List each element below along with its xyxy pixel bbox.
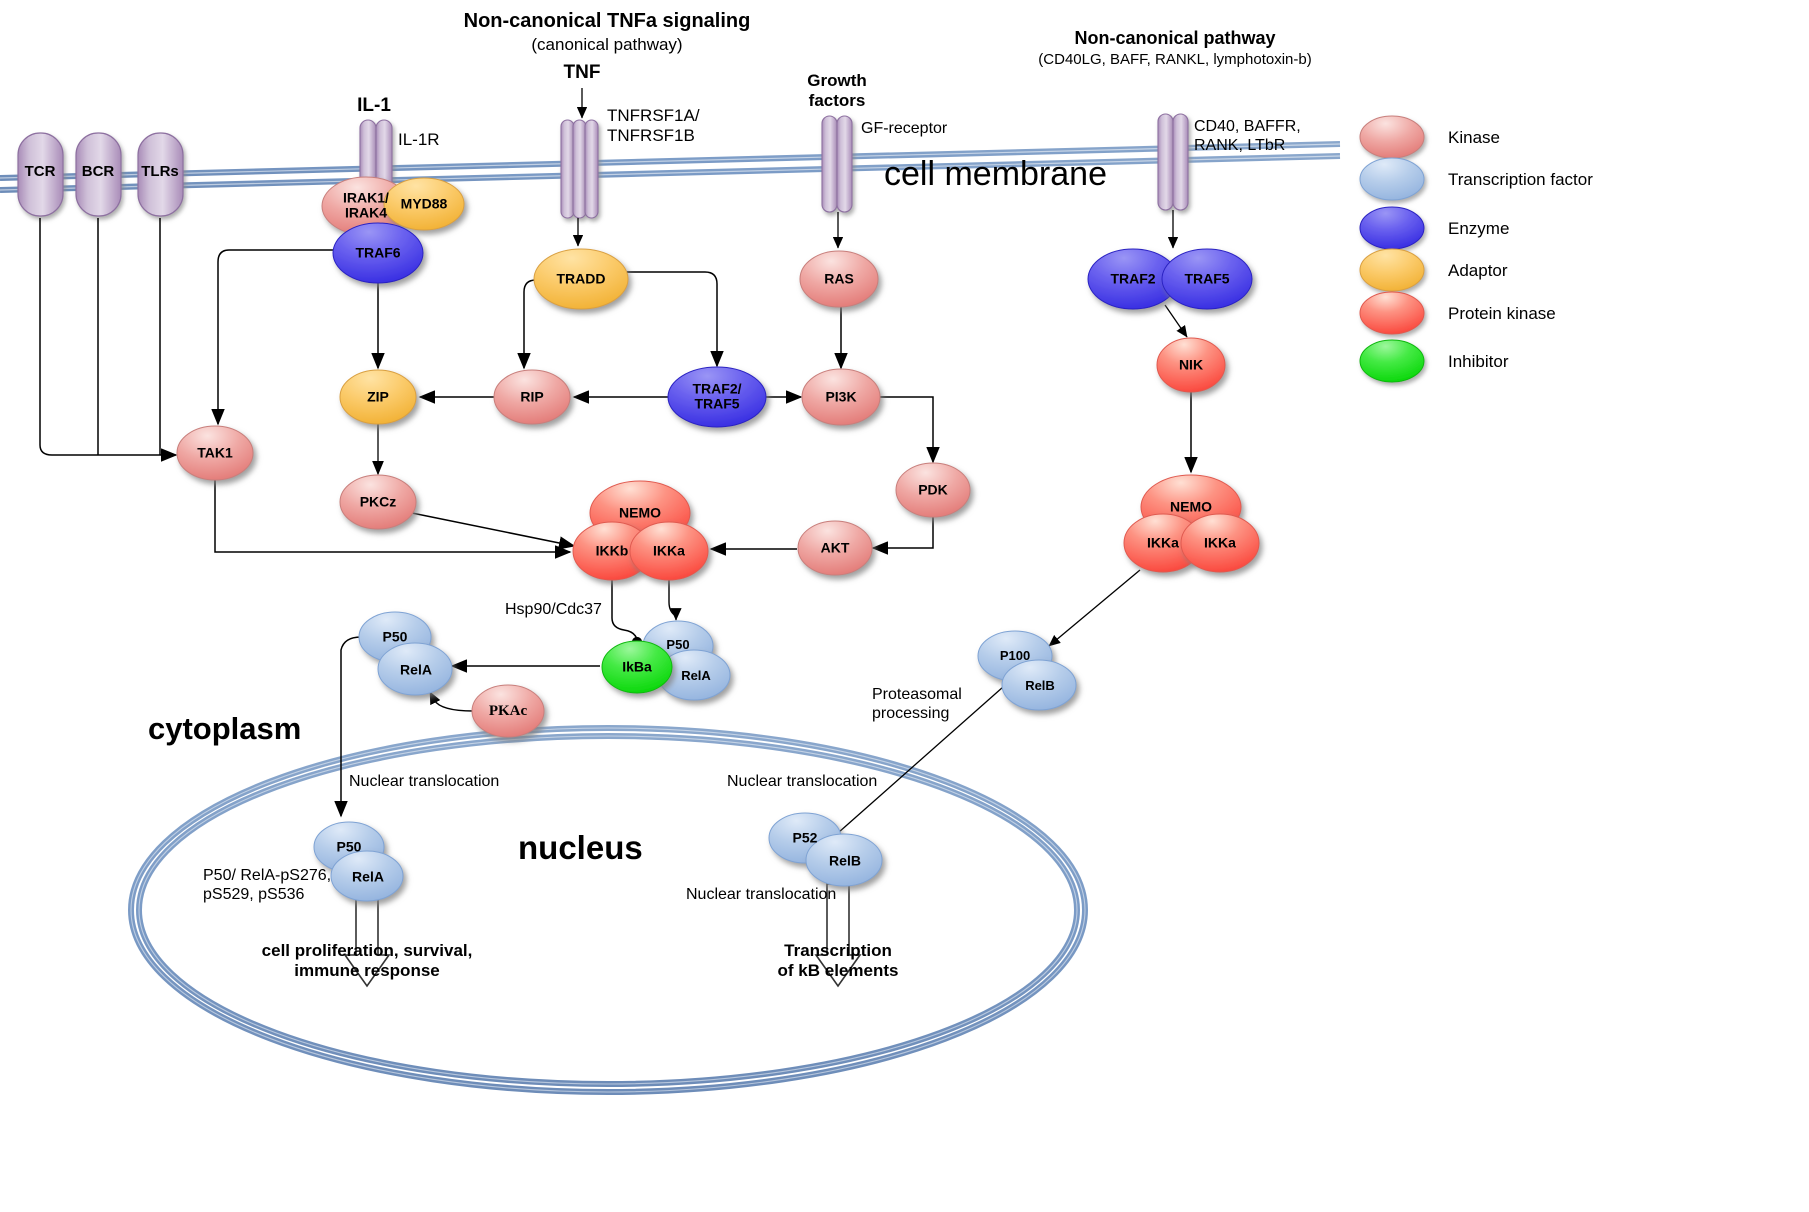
legend-label-transcription-factor: Transcription factor: [1448, 170, 1593, 190]
node-irak: [322, 177, 410, 235]
node-label-nik: NIK: [1179, 357, 1203, 372]
node-pkac: [472, 685, 544, 737]
legend-swatch-protein-kinase: [1360, 292, 1424, 334]
annotation-nuclear-translocation-left: Nuclear translocation: [349, 773, 499, 792]
node-pkcz: [340, 475, 416, 529]
ligand-tnf-label: TNF: [564, 62, 601, 84]
node-label-relb-nucleus: RelB: [829, 853, 861, 868]
node-label-traf2-traf5: TRAF2/ TRAF5: [693, 382, 742, 413]
receptor-bcr-label: BCR: [82, 164, 115, 181]
cytoplasm-label: cytoplasm: [148, 711, 301, 747]
node-label-relb-cyto: RelB: [1025, 679, 1055, 693]
legend-swatches: [1360, 116, 1424, 382]
node-label-p50-complex: P50: [666, 638, 689, 652]
node-label-ikka-right-1: IKKa: [1147, 535, 1179, 550]
node-label-nemo-right: NEMO: [1170, 499, 1212, 514]
node-label-rela-free: RelA: [400, 662, 432, 677]
node-nemo: [590, 481, 690, 545]
node-rela-complex: [658, 650, 730, 700]
legend-label-adaptor: Adaptor: [1448, 261, 1508, 281]
node-p50-free: [359, 612, 431, 662]
node-p100: [978, 631, 1052, 681]
node-label-p50-nucleus: P50: [337, 839, 362, 854]
noncanonical-pathway-heading: Non-canonical pathway: [1074, 28, 1275, 49]
nucleus-label: nucleus: [518, 829, 643, 867]
node-label-pkac: PKAc: [489, 703, 527, 720]
node-label-irak: IRAK1/ IRAK4: [343, 191, 389, 222]
node-label-zip: ZIP: [367, 389, 389, 404]
node-label-ikka: IKKa: [653, 543, 685, 558]
legend-label-inhibitor: Inhibitor: [1448, 352, 1508, 372]
node-label-traf2-right: TRAF2: [1110, 271, 1155, 286]
node-label-tradd: TRADD: [557, 271, 606, 286]
node-traf2-traf5: [668, 367, 766, 427]
receptor-label-cd40: CD40, BAFFR, RANK, LTbR: [1194, 118, 1301, 155]
legend-swatch-enzyme: [1360, 207, 1424, 249]
node-label-pkcz: PKCz: [360, 494, 397, 509]
node-ikka: [630, 522, 708, 580]
receptor-label-il1r: IL-1R: [398, 130, 440, 150]
legend-swatch-kinase: [1360, 116, 1424, 158]
node-zip: [340, 370, 416, 424]
node-label-pi3k: PI3K: [825, 389, 856, 404]
outcome-transcription-kb: Transcription of kB elements: [778, 941, 899, 980]
node-rela-free: [378, 643, 452, 695]
node-traf6: [333, 223, 423, 283]
outcome-cell-proliferation: cell proliferation, survival, immune res…: [262, 941, 473, 980]
node-relb-nucleus: [806, 834, 882, 886]
ligand-il1-label: IL-1: [357, 95, 391, 117]
node-rela-nucleus: [331, 851, 403, 901]
node-label-ras: RAS: [824, 271, 854, 286]
annotation-rela-phospho-sites: P50/ RelA-pS276, pS529, pS536: [203, 867, 331, 904]
node-tak1: [177, 426, 253, 480]
node-label-rela-complex: RelA: [681, 669, 711, 683]
tnf-signaling-subheading: (canonical pathway): [531, 35, 682, 55]
node-label-p50-free: P50: [383, 629, 408, 644]
receptor-label-tnfrsf: TNFRSF1A/ TNFRSF1B: [607, 106, 700, 145]
annotation-hsp90-cdc37: Hsp90/Cdc37: [505, 601, 602, 620]
node-myd88: [384, 178, 464, 230]
node-ikka-right-2: [1181, 514, 1259, 572]
node-traf2-right: [1088, 249, 1178, 309]
annotation-nuclear-translocation-bottom: Nuclear translocation: [686, 886, 836, 905]
legend-label-kinase: Kinase: [1448, 128, 1500, 148]
node-ras: [800, 251, 878, 307]
legend-label-protein-kinase: Protein kinase: [1448, 304, 1556, 324]
receptor-label-gf-receptor: GF-receptor: [861, 120, 947, 139]
node-label-ikka-right-2: IKKa: [1204, 535, 1236, 550]
tnf-signaling-heading: Non-canonical TNFa signaling: [464, 10, 751, 33]
node-label-ikkb: IKKb: [596, 543, 629, 558]
ligand-growth-factors-label: Growth factors: [807, 71, 867, 110]
node-label-tak1: TAK1: [197, 445, 233, 460]
node-ikba: [602, 641, 672, 693]
node-pdk: [896, 463, 970, 517]
annotation-nuclear-translocation-right: Nuclear translocation: [727, 773, 877, 792]
node-nik: [1157, 338, 1225, 392]
node-relb-cyto: [1002, 660, 1076, 710]
node-tradd: [534, 249, 628, 309]
node-label-akt: AKT: [821, 540, 850, 555]
cell-membrane-label: cell membrane: [884, 155, 1107, 194]
legend-swatch-transcription-factor: [1360, 158, 1424, 200]
node-label-nemo: NEMO: [619, 505, 661, 520]
cell-membrane-lines: [0, 144, 1340, 190]
pathway-diagram-canvas: Non-canonical TNFa signaling (canonical …: [0, 0, 1809, 1212]
node-label-traf5-right: TRAF5: [1184, 271, 1229, 286]
legend-swatch-adaptor: [1360, 249, 1424, 291]
node-p50-nucleus: [314, 822, 384, 872]
noncanonical-pathway-subheading: (CD40LG, BAFF, RANKL, lymphotoxin-b): [1038, 51, 1311, 68]
node-nemo-right: [1141, 475, 1241, 539]
legend-swatch-inhibitor: [1360, 340, 1424, 382]
node-p52-nucleus: [769, 813, 841, 863]
annotation-proteasomal-processing: Proteasomal processing: [872, 686, 962, 723]
node-akt: [798, 521, 872, 575]
node-label-rela-nucleus: RelA: [352, 869, 384, 884]
node-rip: [494, 370, 570, 424]
receptor-tlrs-label: TLRs: [141, 164, 179, 181]
node-traf5-right: [1162, 249, 1252, 309]
node-p50-complex: [643, 621, 713, 671]
node-label-rip: RIP: [520, 389, 543, 404]
node-ikka-right-1: [1124, 514, 1202, 572]
node-label-pdk: PDK: [918, 482, 948, 497]
node-ikkb: [573, 522, 651, 580]
node-label-traf6: TRAF6: [355, 245, 400, 260]
node-pi3k: [802, 369, 880, 425]
node-label-p100: P100: [1000, 649, 1030, 663]
nuclear-envelope: [131, 728, 1085, 1092]
receptor-tcr-label: TCR: [25, 164, 56, 181]
pathway-nodes: [177, 177, 1259, 901]
legend-label-enzyme: Enzyme: [1448, 219, 1509, 239]
node-label-myd88: MYD88: [401, 196, 448, 211]
node-label-ikba: IkBa: [622, 659, 652, 674]
node-label-p52-nucleus: P52: [793, 830, 818, 845]
